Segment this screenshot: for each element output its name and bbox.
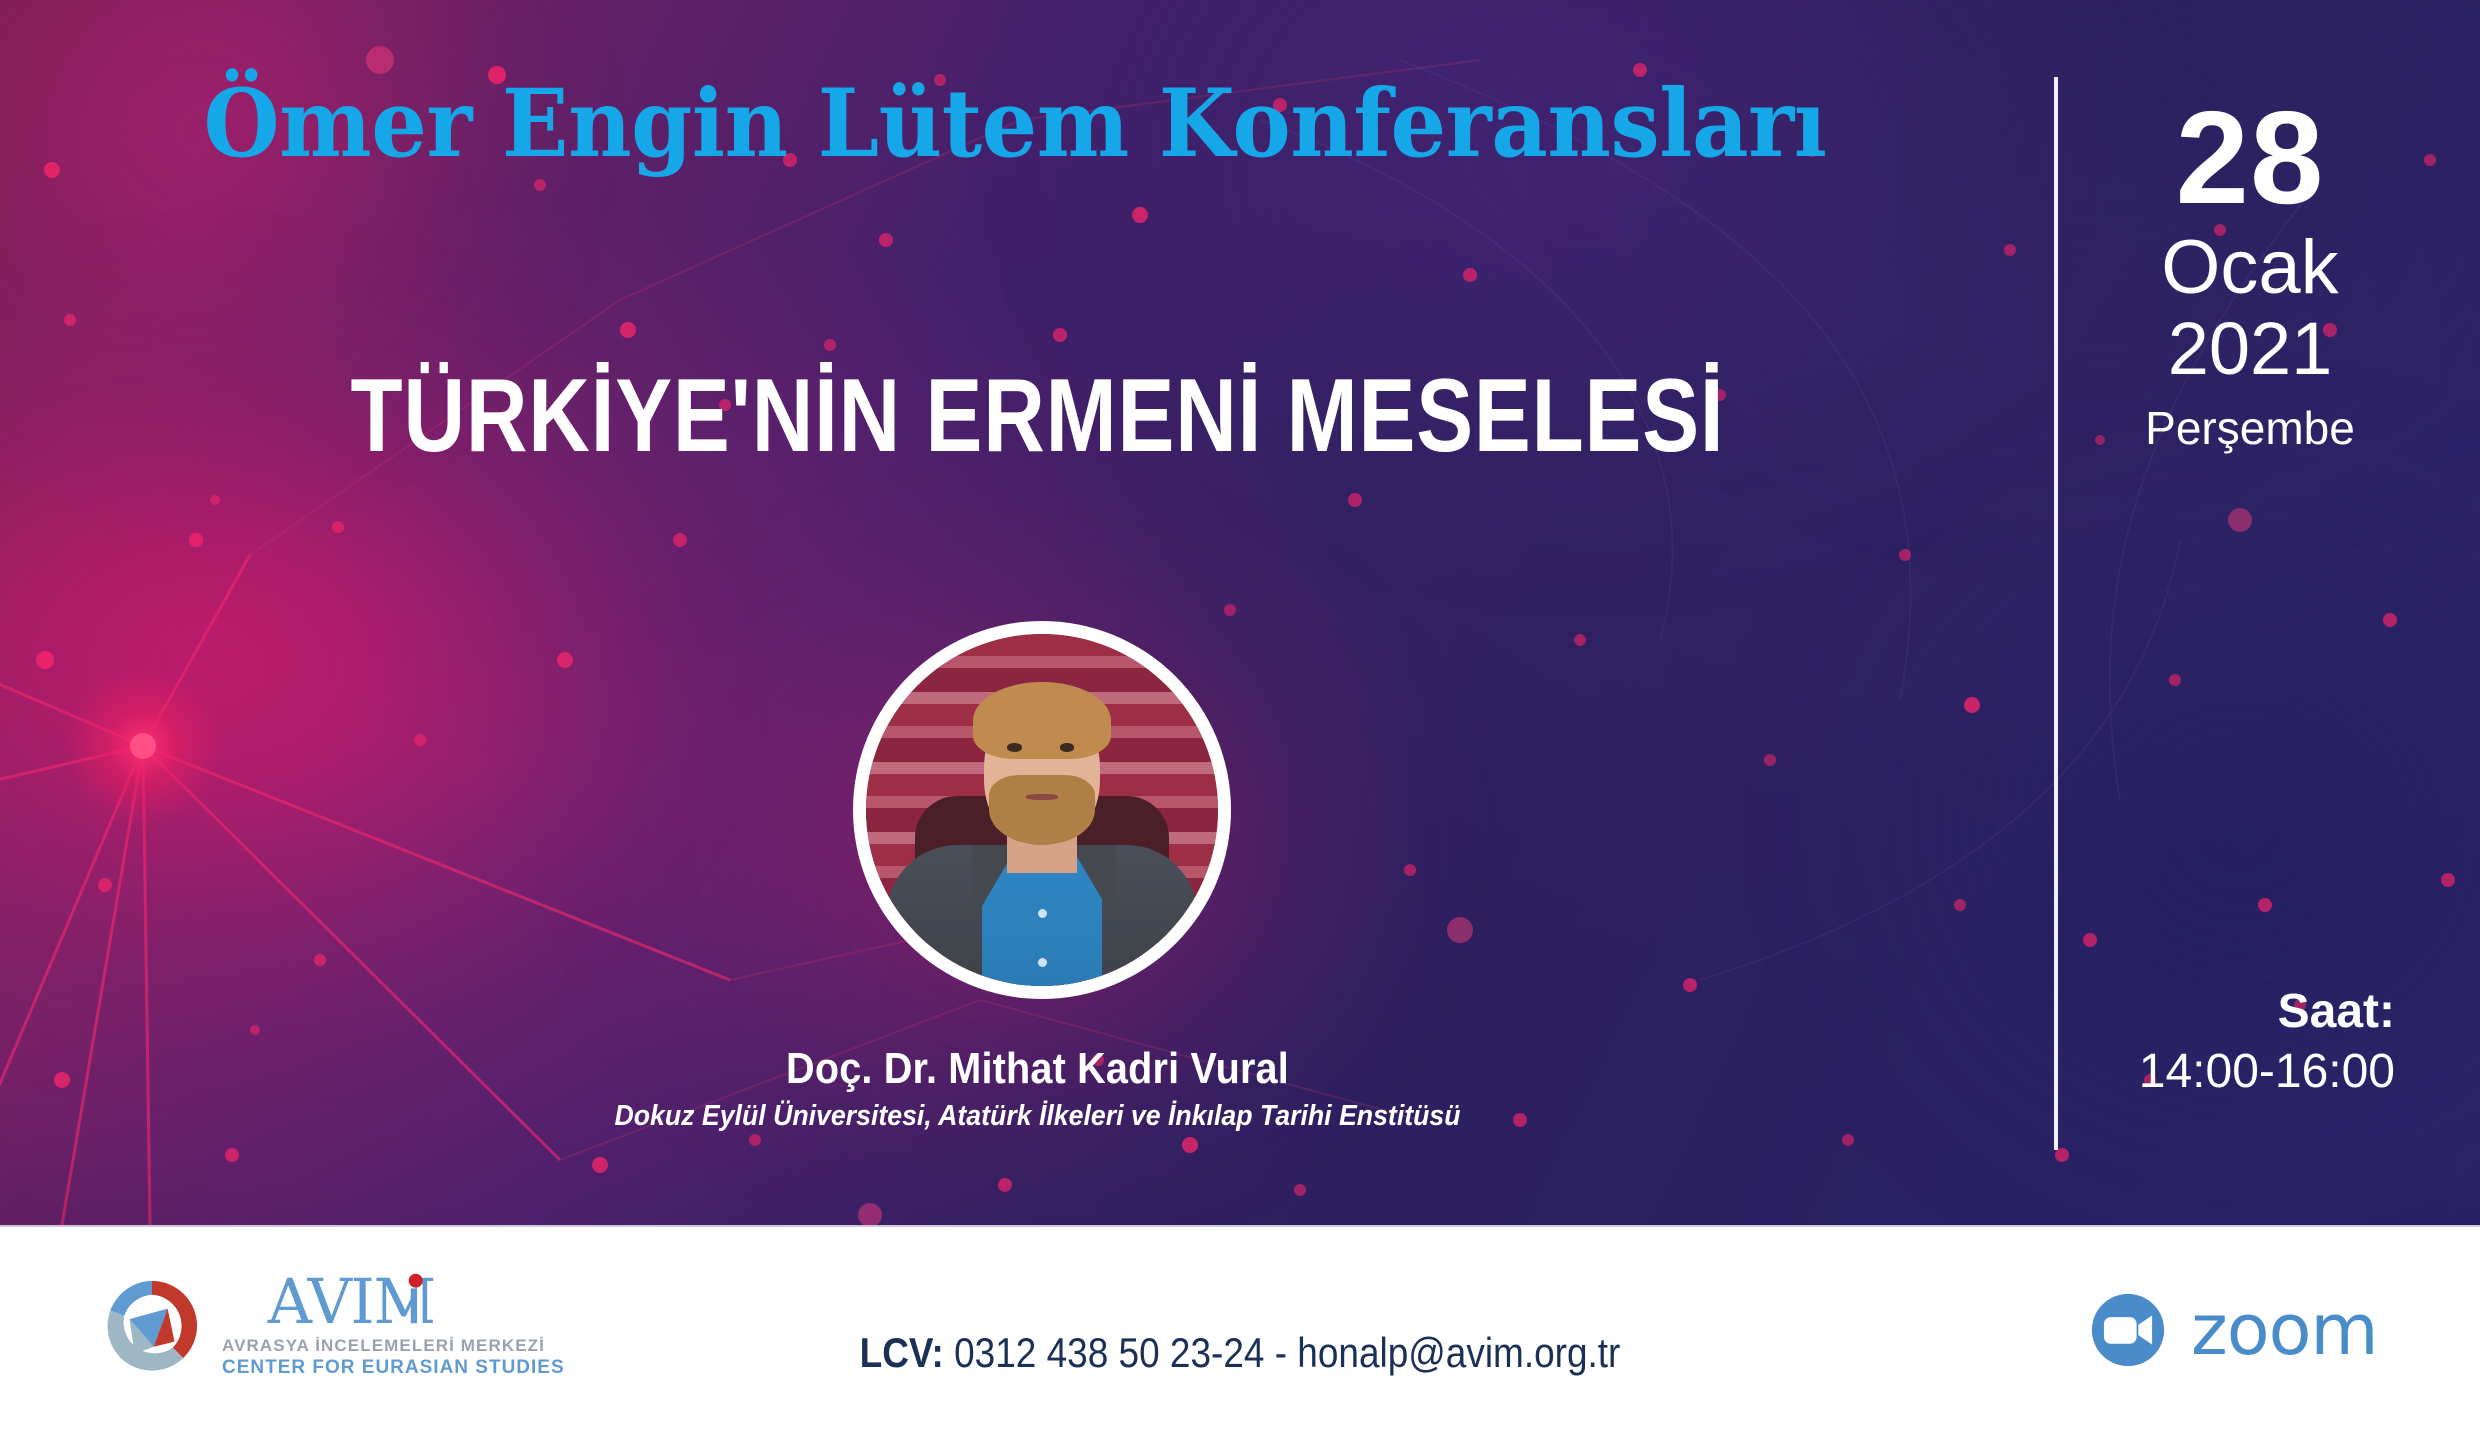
- date-year: 2021: [2090, 310, 2410, 388]
- zoom-camera-icon: [2085, 1287, 2171, 1373]
- lecture-title: TÜRKİYE'NİN ERMENİ MESELESİ: [187, 362, 1889, 470]
- conference-poster: Ömer Engin Lütem Konferansları TÜRKİYE'N…: [0, 0, 2480, 1441]
- time-label: Saat:: [2050, 985, 2395, 1039]
- footer-separator: [0, 1225, 2480, 1227]
- contact-value: 0312 438 50 23-24 - honalp@avim.org.tr: [954, 1329, 1620, 1376]
- poster-content: Ömer Engin Lütem Konferansları TÜRKİYE'N…: [0, 0, 2480, 1225]
- event-time-panel: Saat: 14:00-16:00: [2050, 985, 2395, 1100]
- speaker-photo: [853, 621, 1231, 999]
- zoom-logo: zoom: [2085, 1287, 2378, 1373]
- avim-name-icon: AVIM: [222, 1273, 565, 1333]
- conference-series-title: Ömer Engin Lütem Konferansları: [71, 75, 1959, 174]
- photo-mouth: [1026, 794, 1058, 800]
- contact-label: LCV:: [860, 1329, 944, 1376]
- photo-eye-left: [1007, 743, 1022, 751]
- speaker-name: Doç. Dr. Mithat Kadri Vural: [104, 1044, 1972, 1094]
- photo-eye-right: [1060, 743, 1075, 751]
- date-month: Ocak: [2090, 228, 2410, 309]
- zoom-wordmark: zoom: [2191, 1295, 2378, 1365]
- speaker-photo-image: [866, 634, 1218, 986]
- speaker-affiliation: Dokuz Eylül Üniversitesi, Atatürk İlkele…: [83, 1100, 1992, 1133]
- poster-footer: AVIM AVRASYA İNCELEMELERİ MERKEZİ CENTER…: [0, 1225, 2480, 1441]
- contact-line: LCV: 0312 438 50 23-24 - honalp@avim.org…: [149, 1329, 2331, 1377]
- event-date-panel: 28 Ocak 2021 Perşembe: [2090, 95, 2410, 453]
- date-weekday: Perşembe: [2090, 403, 2410, 454]
- date-day: 28: [2090, 95, 2410, 222]
- photo-hair: [973, 682, 1110, 759]
- photo-beard: [989, 775, 1095, 845]
- time-value: 14:00-16:00: [2050, 1043, 2395, 1101]
